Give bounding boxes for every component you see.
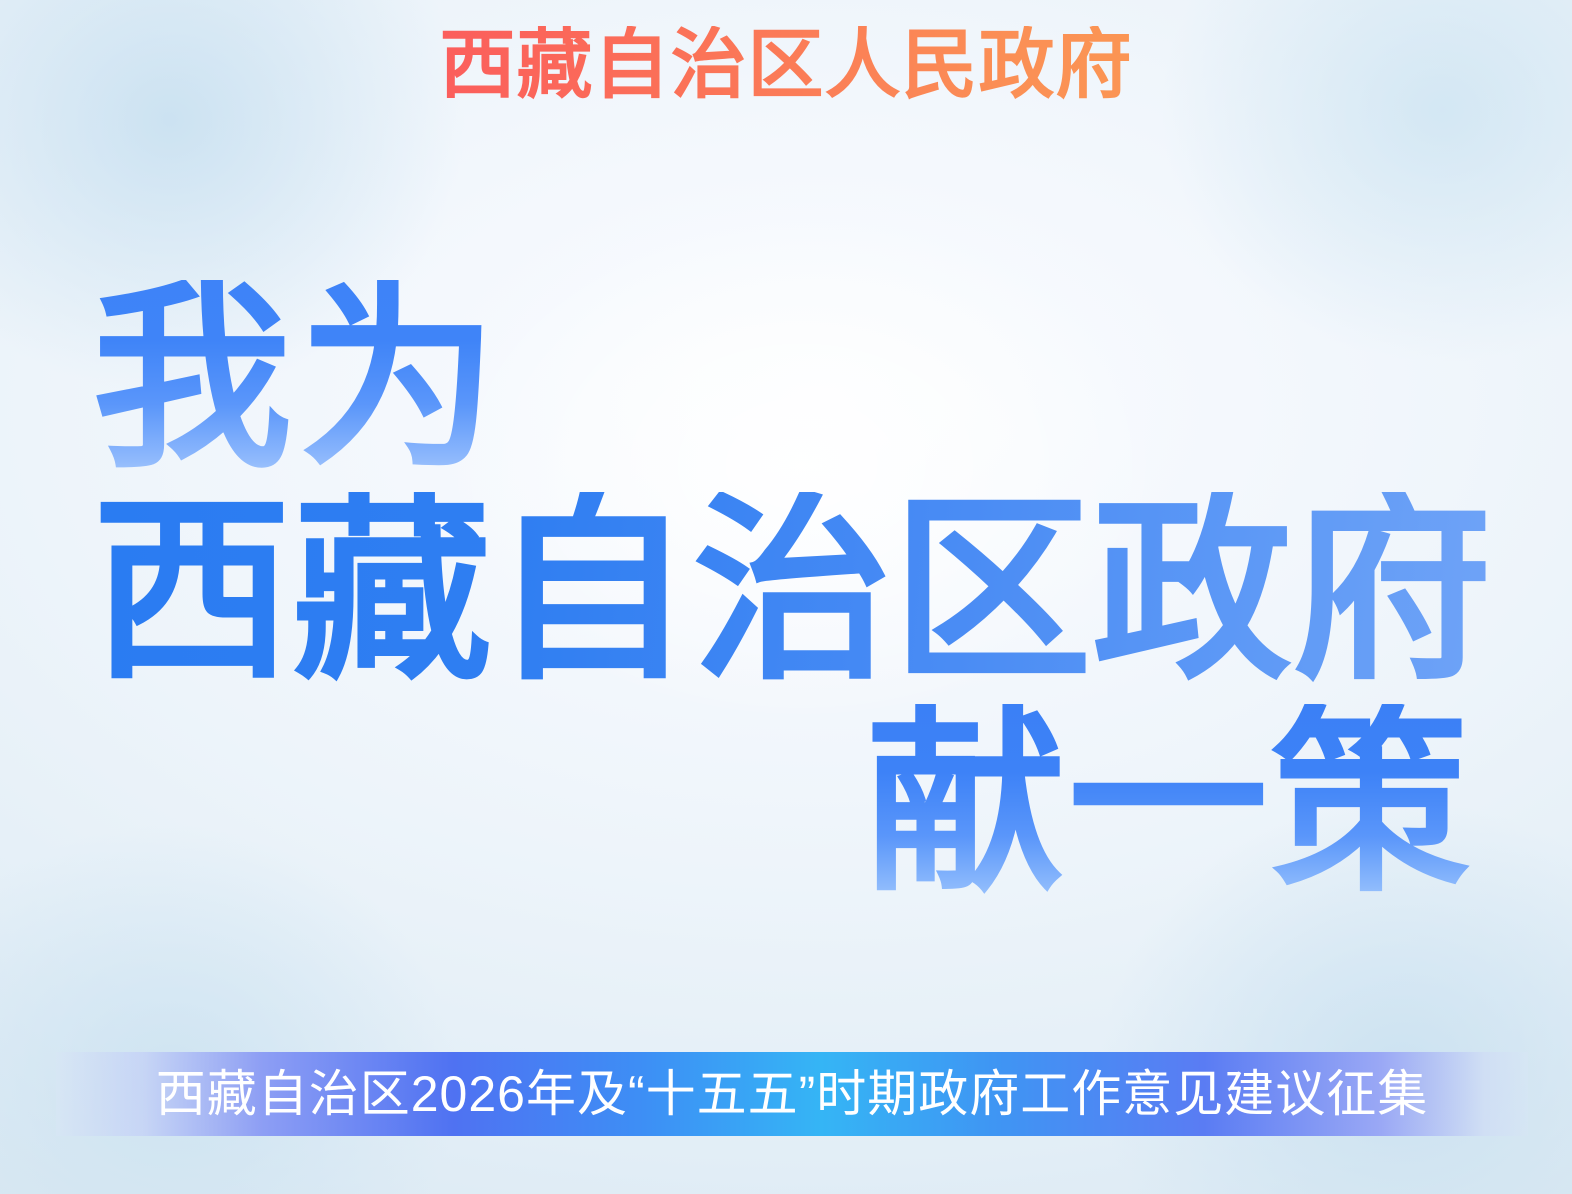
headline-block: 我为 西藏自治区政府 献一策 [0,280,1572,920]
campaign-banner: 西藏自治区2026年及“十五五”时期政府工作意见建议征集 [56,1052,1528,1136]
headline-line-1: 我为 [92,280,504,480]
campaign-banner-text: 西藏自治区2026年及“十五五”时期政府工作意见建议征集 [156,1069,1429,1119]
organization-title: 西藏自治区人民政府 [0,26,1572,105]
headline-line-2: 西藏自治区政府 [92,492,1492,692]
poster-canvas: 西藏自治区人民政府 我为 西藏自治区政府 献一策 西藏自治区2026年及“十五五… [0,0,1572,1194]
headline-line-3: 献一策 [866,704,1472,904]
